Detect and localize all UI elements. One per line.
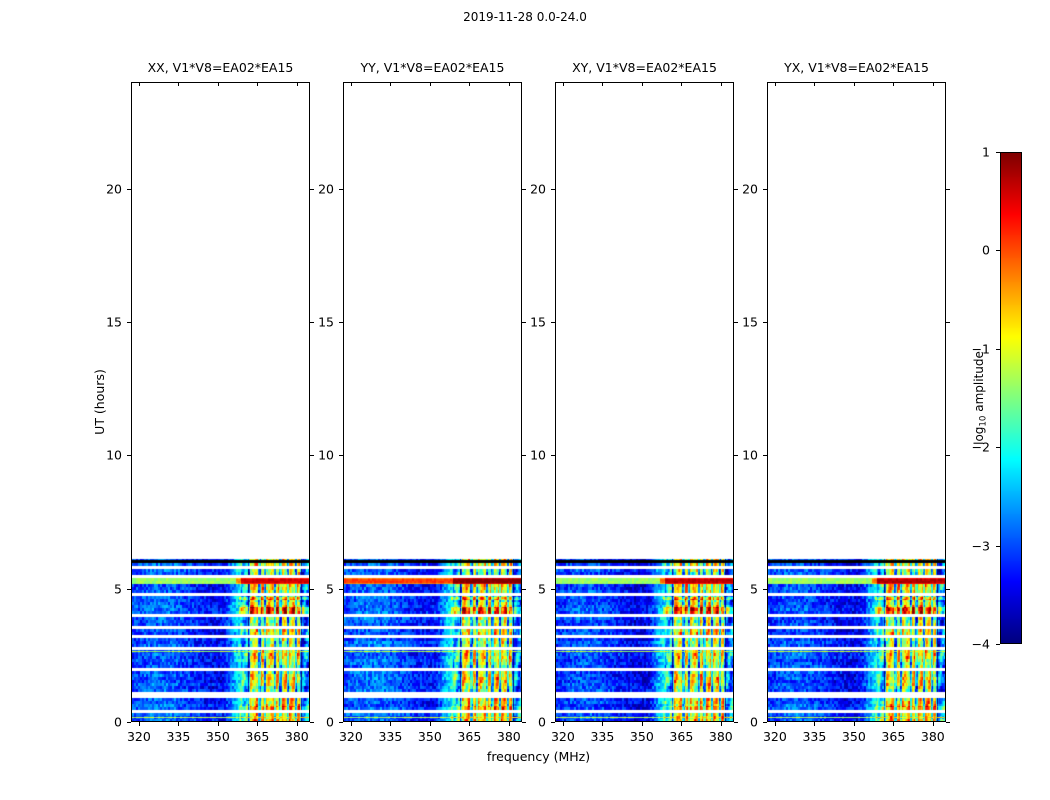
xtick-top [390,82,391,86]
xtick [509,722,510,726]
ytick [339,722,343,723]
ytick-right [734,722,738,723]
panel-xx: XX, V1*V8=EA02*EA15320335350365380051015… [131,82,310,722]
colorbar-label-prefix: log [972,427,986,445]
ytick-right [734,589,738,590]
xticklabel: 380 [497,729,521,744]
waterfall-image-yx [768,83,945,721]
ytick [339,322,343,323]
colorbar-tick [996,152,1000,153]
yticklabel: 5 [326,581,334,596]
yticklabel: 5 [538,581,546,596]
y-axis-label: UT (hours) [92,369,107,435]
colorbar-tick [996,250,1000,251]
xtick [178,722,179,726]
x-axis-label: frequency (MHz) [487,749,590,764]
ytick [763,722,767,723]
ytick [339,455,343,456]
ytick [127,589,131,590]
xtick-top [814,82,815,86]
ytick-right [522,589,526,590]
colorbar-canvas [1001,153,1021,643]
xtick-top [602,82,603,86]
xtick [721,722,722,726]
yticklabel: 20 [318,181,334,196]
xtick [814,722,815,726]
xtick-top [854,82,855,86]
xtick [257,722,258,726]
yticklabel: 5 [114,581,122,596]
panel-xy: XY, V1*V8=EA02*EA15320335350365380051015… [555,82,734,722]
xtick-top [681,82,682,86]
xtick-top [469,82,470,86]
yticklabel: 10 [530,448,546,463]
xtick-top [297,82,298,86]
panel-title-yy: YY, V1*V8=EA02*EA15 [343,60,522,75]
yticklabel: 20 [530,181,546,196]
panel-title-xx: XX, V1*V8=EA02*EA15 [131,60,310,75]
xtick-top [893,82,894,86]
xtick [563,722,564,726]
spectrogram-xx [131,82,310,722]
ytick-right [522,455,526,456]
xticklabel: 320 [763,729,787,744]
colorbar-ticklabel: 1 [982,145,990,160]
ytick-right [946,722,950,723]
ytick [551,455,555,456]
ytick [127,322,131,323]
ytick-right [310,589,314,590]
ytick [127,189,131,190]
figure-suptitle: 2019-11-28 0.0-24.0 [0,10,1050,24]
yticklabel: 0 [538,715,546,730]
ytick-right [734,322,738,323]
xtick-top [139,82,140,86]
colorbar-ticklabel: 0 [982,243,990,258]
xticklabel: 350 [418,729,442,744]
ytick-right [522,189,526,190]
xticklabel: 335 [378,729,402,744]
ytick [551,589,555,590]
panel-title-xy: XY, V1*V8=EA02*EA15 [555,60,734,75]
yticklabel: 5 [750,581,758,596]
ytick [551,322,555,323]
xticklabel: 335 [166,729,190,744]
ytick-right [310,722,314,723]
xticklabel: 350 [842,729,866,744]
colorbar-tick [996,349,1000,350]
yticklabel: 15 [106,315,122,330]
colorbar-ticklabel: −4 [972,637,990,652]
xtick-top [642,82,643,86]
xtick [775,722,776,726]
ytick [339,189,343,190]
xtick-top [178,82,179,86]
ytick-right [522,322,526,323]
xticklabel: 320 [339,729,363,744]
panel-yy: YY, V1*V8=EA02*EA15320335350365380051015… [343,82,522,722]
ytick-right [946,322,950,323]
xticklabel: 350 [206,729,230,744]
ytick [763,455,767,456]
colorbar-tick [996,546,1000,547]
waterfall-image-xx [132,83,309,721]
xticklabel: 350 [630,729,654,744]
colorbar-ticklabel: −3 [972,538,990,553]
xtick-top [257,82,258,86]
colorbar-gradient [1000,152,1022,644]
xticklabel: 365 [245,729,269,744]
colorbar-label: log10 amplitude [972,351,988,445]
xtick [893,722,894,726]
xtick-top [563,82,564,86]
xticklabel: 365 [457,729,481,744]
xticklabel: 320 [127,729,151,744]
yticklabel: 10 [318,448,334,463]
xtick-top [933,82,934,86]
xtick-top [218,82,219,86]
ytick-right [310,322,314,323]
ytick-right [946,589,950,590]
xtick [390,722,391,726]
yticklabel: 0 [326,715,334,730]
spectrogram-yy [343,82,522,722]
ytick [127,455,131,456]
ytick-right [310,455,314,456]
xtick [642,722,643,726]
ytick [339,589,343,590]
ytick [763,589,767,590]
ytick-right [734,455,738,456]
waterfall-image-yy [344,83,521,721]
ytick-right [946,455,950,456]
ytick-right [522,722,526,723]
yticklabel: 0 [114,715,122,730]
yticklabel: 15 [742,315,758,330]
yticklabel: 10 [742,448,758,463]
xticklabel: 335 [590,729,614,744]
yticklabel: 20 [106,181,122,196]
yticklabel: 0 [750,715,758,730]
ytick [763,322,767,323]
ytick [551,722,555,723]
colorbar-label-suffix: amplitude [972,351,986,415]
xticklabel: 380 [921,729,945,744]
xtick-top [775,82,776,86]
xtick [933,722,934,726]
ytick-right [734,189,738,190]
waterfall-image-xy [556,83,733,721]
ytick [551,189,555,190]
xticklabel: 365 [881,729,905,744]
xtick [218,722,219,726]
ytick-right [310,189,314,190]
colorbar-label-subscript: 10 [978,416,988,427]
xtick [297,722,298,726]
xtick [430,722,431,726]
xticklabel: 365 [669,729,693,744]
xtick-top [351,82,352,86]
xtick [351,722,352,726]
xtick [139,722,140,726]
xticklabel: 320 [551,729,575,744]
ytick [763,189,767,190]
xtick-top [721,82,722,86]
xtick-top [430,82,431,86]
xticklabel: 335 [802,729,826,744]
xtick-top [509,82,510,86]
spectrogram-yx [767,82,946,722]
panel-yx: YX, V1*V8=EA02*EA15320335350365380051015… [767,82,946,722]
yticklabel: 20 [742,181,758,196]
xticklabel: 380 [285,729,309,744]
ytick-right [946,189,950,190]
xtick [602,722,603,726]
yticklabel: 10 [106,448,122,463]
yticklabel: 15 [318,315,334,330]
colorbar: −4−3−2−101 [1000,152,1022,644]
xtick [469,722,470,726]
yticklabel: 15 [530,315,546,330]
spectrogram-xy [555,82,734,722]
xtick [854,722,855,726]
colorbar-tick [996,447,1000,448]
panel-title-yx: YX, V1*V8=EA02*EA15 [767,60,946,75]
xtick [681,722,682,726]
xticklabel: 380 [709,729,733,744]
colorbar-tick [996,644,1000,645]
ytick [127,722,131,723]
figure-canvas: 2019-11-28 0.0-24.0 −4−3−2−101 XX, V1*V8… [0,0,1050,800]
